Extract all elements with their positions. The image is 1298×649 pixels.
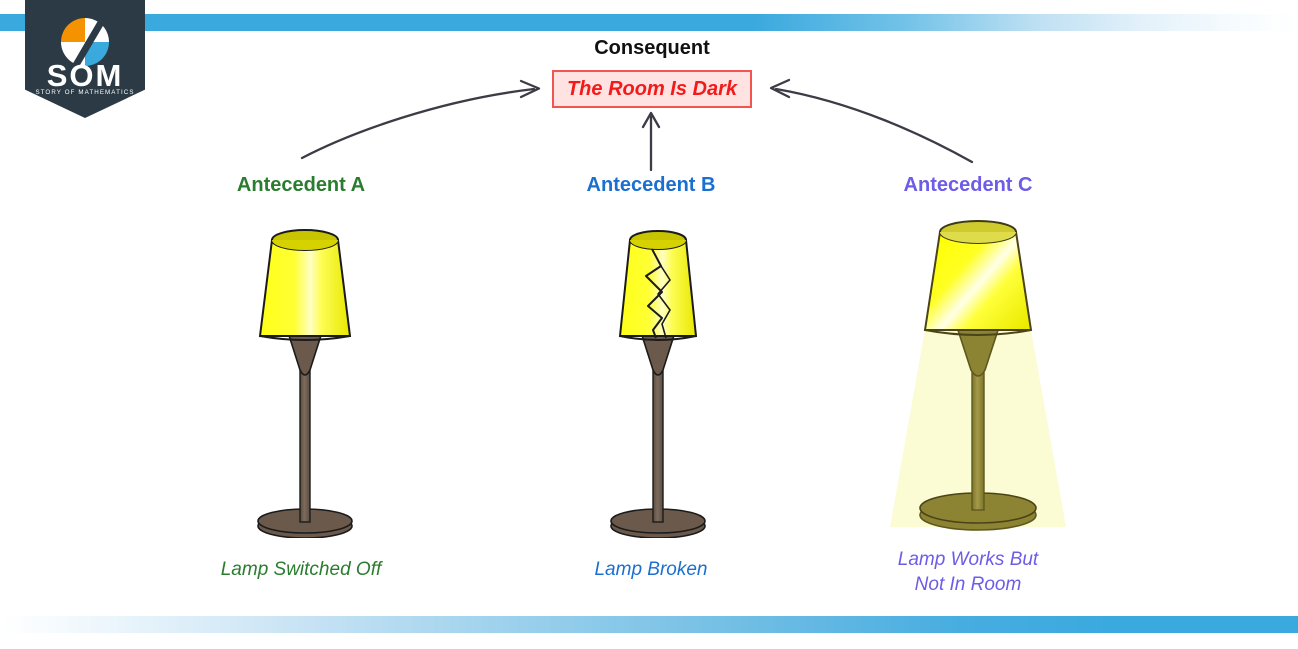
caption-lamp-a: Lamp Switched Off — [151, 557, 451, 582]
lamp-lit-icon — [878, 212, 1078, 542]
lamp-broken-icon — [578, 218, 738, 538]
antecedent-a-label: Antecedent A — [151, 174, 451, 197]
top-gradient-bar — [0, 14, 1298, 31]
bottom-gradient-bar — [0, 616, 1298, 633]
lamp-off-icon — [225, 218, 385, 538]
caption-lamp-c-line2: Not In Room — [818, 572, 1118, 597]
caption-lamp-c: Lamp Works But Not In Room — [818, 547, 1118, 597]
antecedent-b-label: Antecedent B — [501, 174, 801, 197]
arrow-from-antecedent-a — [302, 81, 539, 158]
caption-lamp-c-line1: Lamp Works But — [818, 547, 1118, 572]
diagram-canvas: SOM STORY OF MATHEMATICS Consequent The … — [0, 0, 1298, 649]
som-logo-shield: SOM STORY OF MATHEMATICS — [25, 0, 145, 118]
consequent-statement-text: The Room Is Dark — [567, 78, 737, 101]
som-tagline: STORY OF MATHEMATICS — [25, 90, 145, 96]
antecedent-c-label: Antecedent C — [818, 174, 1118, 197]
arrow-from-antecedent-b — [643, 113, 659, 170]
consequent-statement-box: The Room Is Dark — [552, 70, 752, 108]
som-wordmark: SOM — [25, 60, 145, 91]
caption-lamp-b: Lamp Broken — [501, 557, 801, 582]
arrow-from-antecedent-c — [771, 80, 972, 162]
consequent-heading: Consequent — [502, 37, 802, 60]
